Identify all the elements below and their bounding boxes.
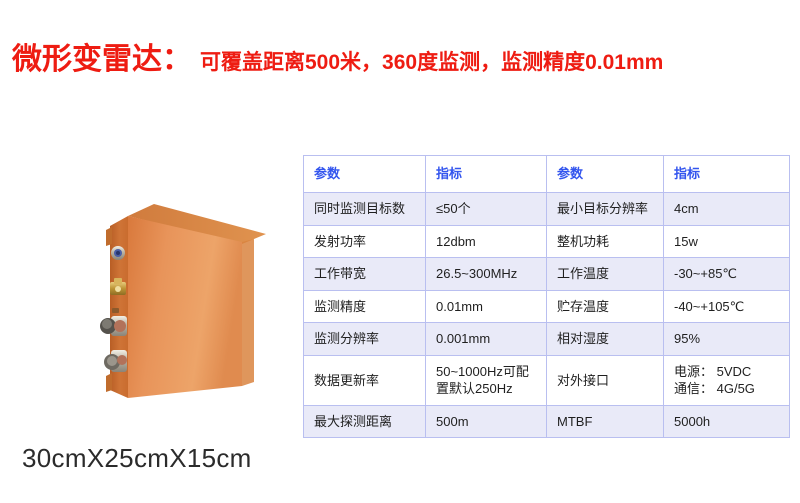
table-cell-param: 发射功率 <box>304 225 426 258</box>
table-row: 数据更新率 50~1000Hz可配置默认250Hz 对外接口 电源： 5VDC … <box>304 355 790 405</box>
table-header-cell-3: 指标 <box>664 156 790 193</box>
table-cell-param: 工作温度 <box>547 258 664 291</box>
product-dimension-label: 30cmX25cmX15cm <box>22 443 252 474</box>
table-cell-value: 50~1000Hz可配置默认250Hz <box>426 355 547 405</box>
table-row: 监测精度 0.01mm 贮存温度 -40~+105℃ <box>304 290 790 323</box>
table-cell-param: 最大探测距离 <box>304 405 426 438</box>
table-cell-param: 最小目标分辨率 <box>547 193 664 226</box>
table-cell-param: 工作带宽 <box>304 258 426 291</box>
page-title-main: 微形变雷达： <box>12 45 192 75</box>
page-title: 微形变雷达： 可覆盖距离500米，360度监测，监测精度0.01mm <box>12 45 663 75</box>
page-title-subtitle: 可覆盖距离500米，360度监测，监测精度0.01mm <box>200 52 663 73</box>
spec-table-container: 参数 指标 参数 指标 同时监测目标数 ≤50个 最小目标分辨率 4cm 发射功… <box>303 155 789 438</box>
table-cell-param: 监测分辨率 <box>304 323 426 356</box>
table-body: 同时监测目标数 ≤50个 最小目标分辨率 4cm 发射功率 12dbm 整机功耗… <box>304 193 790 438</box>
table-cell-param: 贮存温度 <box>547 290 664 323</box>
table-cell-value: 电源： 5VDC 通信： 4G/5G <box>664 355 790 405</box>
table-cell-param: 数据更新率 <box>304 355 426 405</box>
table-row: 同时监测目标数 ≤50个 最小目标分辨率 4cm <box>304 193 790 226</box>
table-cell-param: 监测精度 <box>304 290 426 323</box>
connector-round-large-a <box>100 316 127 336</box>
table-cell-value: 26.5~300MHz <box>426 258 547 291</box>
connector-round-large-b <box>104 350 127 372</box>
radar-device-illustration <box>90 190 275 425</box>
table-cell-value: 4cm <box>664 193 790 226</box>
table-cell-param: 对外接口 <box>547 355 664 405</box>
table-cell-value: 500m <box>426 405 547 438</box>
table-cell-value: 15w <box>664 225 790 258</box>
device-front-face <box>128 216 242 398</box>
connector-circular-blue <box>111 246 125 260</box>
table-row: 监测分辨率 0.001mm 相对湿度 95% <box>304 323 790 356</box>
table-cell-value: 95% <box>664 323 790 356</box>
table-header-row: 参数 指标 参数 指标 <box>304 156 790 193</box>
table-cell-param: 整机功耗 <box>547 225 664 258</box>
table-cell-value: 0.01mm <box>426 290 547 323</box>
table-cell-value: -30~+85℃ <box>664 258 790 291</box>
table-cell-value: ≤50个 <box>426 193 547 226</box>
connector-small-vent <box>112 308 119 313</box>
table-cell-value: 0.001mm <box>426 323 547 356</box>
table-cell-param: MTBF <box>547 405 664 438</box>
table-cell-value: -40~+105℃ <box>664 290 790 323</box>
table-cell-param: 同时监测目标数 <box>304 193 426 226</box>
table-cell-value: 12dbm <box>426 225 547 258</box>
table-header-cell-2: 参数 <box>547 156 664 193</box>
table-cell-value: 5000h <box>664 405 790 438</box>
table-header-cell-0: 参数 <box>304 156 426 193</box>
table-row: 工作带宽 26.5~300MHz 工作温度 -30~+85℃ <box>304 258 790 291</box>
table-row: 最大探测距离 500m MTBF 5000h <box>304 405 790 438</box>
device-right-edge <box>242 239 254 386</box>
product-photo <box>90 190 275 425</box>
table-header-cell-1: 指标 <box>426 156 547 193</box>
spec-table: 参数 指标 参数 指标 同时监测目标数 ≤50个 最小目标分辨率 4cm 发射功… <box>303 155 790 438</box>
table-row: 发射功率 12dbm 整机功耗 15w <box>304 225 790 258</box>
table-cell-param: 相对湿度 <box>547 323 664 356</box>
